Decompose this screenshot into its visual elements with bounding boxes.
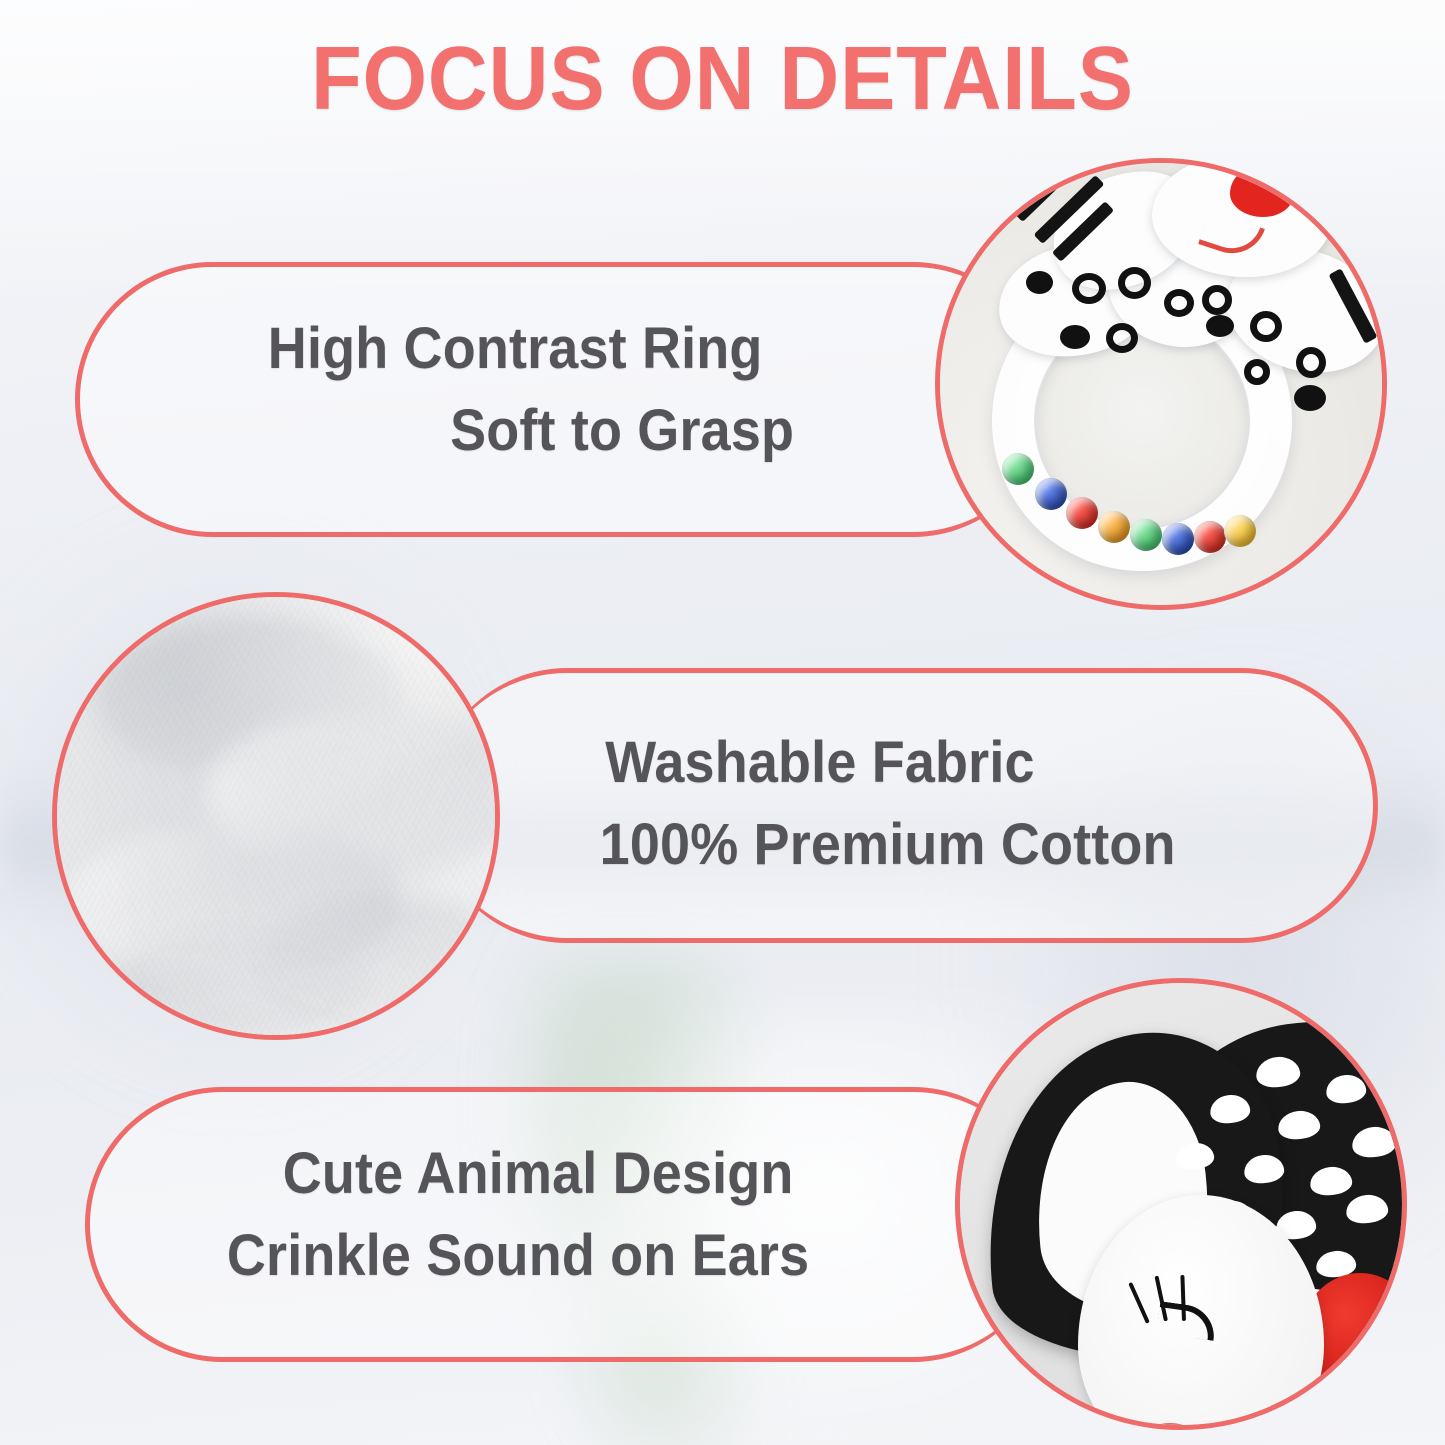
feature-2-line-2: 100% Premium Cotton (600, 812, 1176, 877)
feature-3-line-2: Crinkle Sound on Ears (227, 1223, 809, 1288)
feature-1-line-2: Soft to Grasp (268, 390, 794, 472)
feature-text-cute-animal-design: Cute Animal Design Crinkle Sound on Ears (227, 1133, 809, 1297)
feature-text-high-contrast-ring: High Contrast Ring Soft to Grasp (268, 308, 794, 472)
feature-text-washable-fabric: Washable Fabric 100% Premium Cotton (600, 722, 1176, 886)
fleece-fabric-photo (52, 592, 500, 1040)
infographic-canvas: FOCUS ON DETAILS High Contrast Ring Soft… (0, 0, 1445, 1445)
feature-1-line-1: High Contrast Ring (268, 316, 763, 381)
rattle-ring-photo (935, 158, 1387, 610)
cat-plush-photo (955, 978, 1407, 1430)
feature-3-line-1: Cute Animal Design (227, 1133, 809, 1215)
feature-2-line-1: Washable Fabric (600, 722, 1176, 804)
page-title: FOCUS ON DETAILS (58, 28, 1387, 131)
